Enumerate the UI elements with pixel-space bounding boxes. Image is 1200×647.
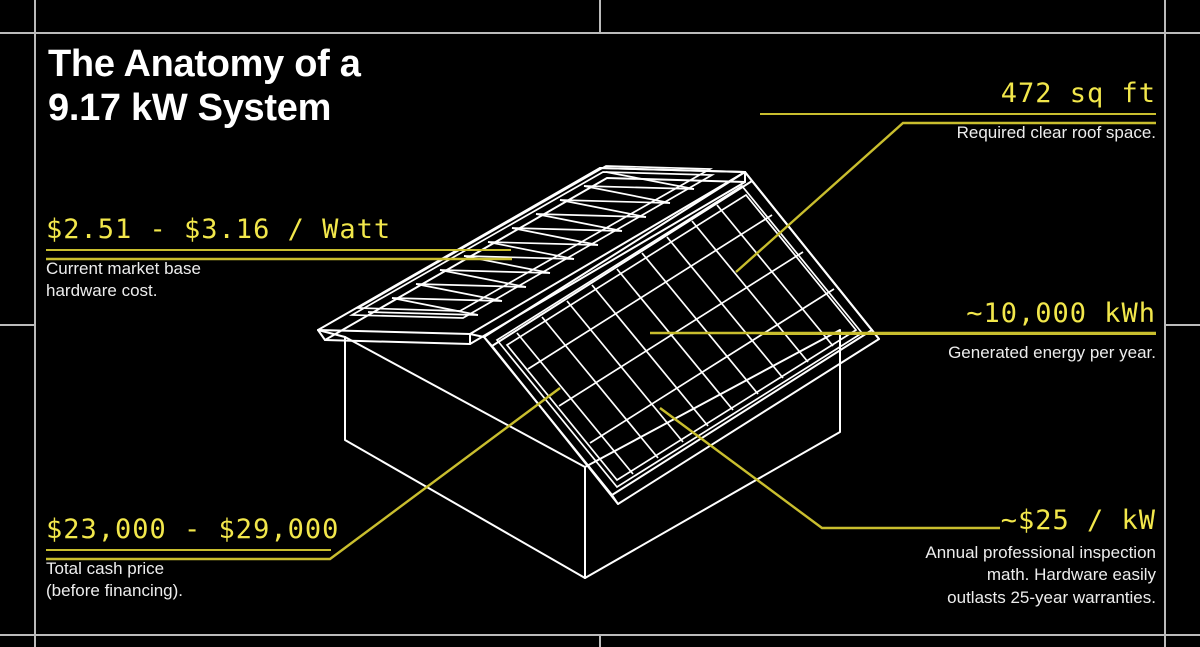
callout-maint-body: Annual professional inspection math. Har… <box>760 542 1156 609</box>
callout-total-headline: $23,000 - $29,000 <box>46 514 331 549</box>
leader-line-area <box>736 123 1156 272</box>
callout-maintenance-cost: ~$25 / kW Annual professional inspection… <box>760 505 1156 609</box>
callout-cost-rule <box>46 249 511 251</box>
callout-total-rule <box>46 549 331 551</box>
callout-total-price: $23,000 - $29,000 Total cash price (befo… <box>46 514 331 603</box>
callout-area-body: Required clear roof space. <box>760 122 1156 144</box>
callout-energy-body: Generated energy per year. <box>760 342 1156 364</box>
callout-area-rule <box>760 113 1156 115</box>
callout-total-body: Total cash price (before financing). <box>46 558 331 603</box>
callout-hardware-cost: $2.51 - $3.16 / Watt Current market base… <box>46 214 511 303</box>
callout-energy-headline: ~10,000 kWh <box>760 298 1156 333</box>
callout-cost-body: Current market base hardware cost. <box>46 258 511 303</box>
callout-area-headline: 472 sq ft <box>760 78 1156 113</box>
callout-maint-headline: ~$25 / kW <box>760 505 1156 542</box>
page-title: The Anatomy of a 9.17 kW System <box>48 42 361 130</box>
callout-annual-energy: ~10,000 kWh Generated energy per year. <box>760 298 1156 364</box>
callout-energy-rule <box>760 333 1156 335</box>
callout-cost-headline: $2.51 - $3.16 / Watt <box>46 214 511 249</box>
callout-roof-area: 472 sq ft Required clear roof space. <box>760 78 1156 144</box>
infographic-canvas: The Anatomy of a 9.17 kW System $2.51 - … <box>0 0 1200 647</box>
